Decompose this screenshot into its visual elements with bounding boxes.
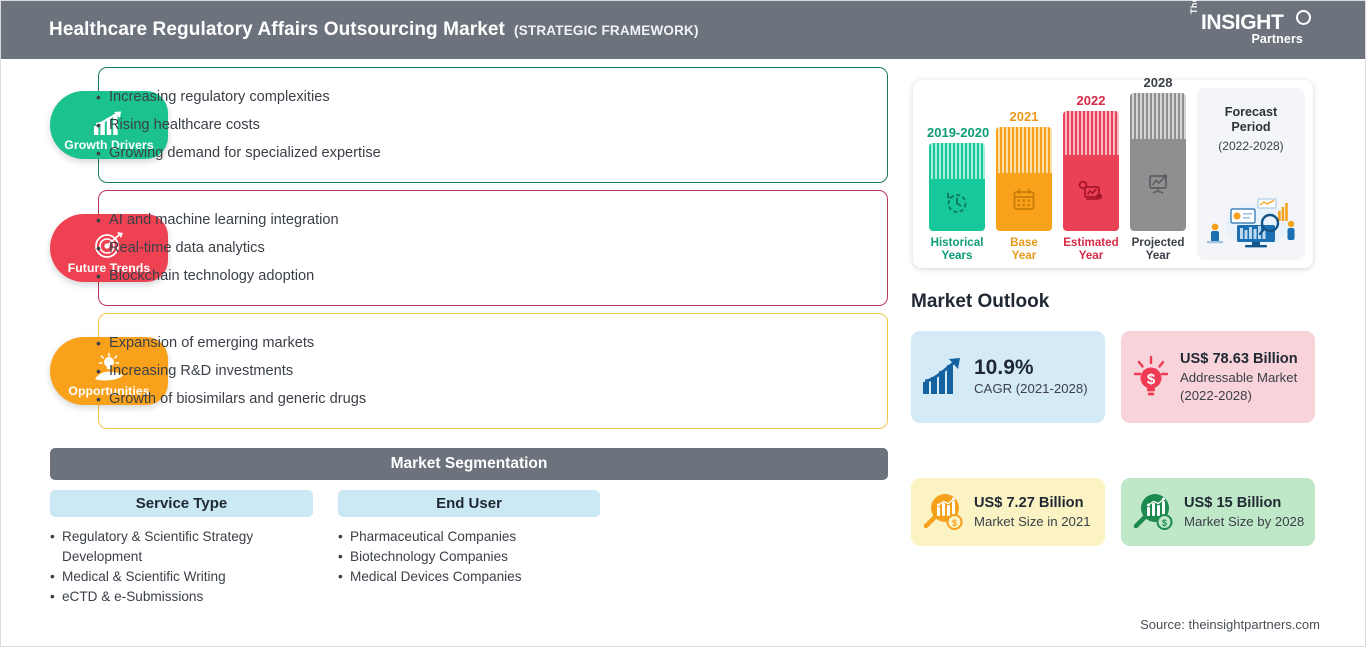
outlook-card-market-size-2021: $ US$ 7.27 Billion Market Size in 2021: [911, 478, 1105, 546]
list-item: Medical Devices Companies: [338, 567, 608, 587]
analytics-gear-icon: [1077, 178, 1105, 209]
bar-stripe-section: [1063, 111, 1119, 155]
list-item: Growing demand for specialized expertise: [96, 139, 381, 167]
list-item: Medical & Scientific Writing: [50, 567, 320, 587]
bar-caption: Projected Year: [1128, 236, 1188, 262]
business-analytics-illustration: [1201, 191, 1301, 254]
header-bar: Healthcare Regulatory Affairs Outsourcin…: [1, 1, 1365, 59]
market-outlook-title: Market Outlook: [911, 291, 1049, 313]
logo-ring-icon: [1296, 10, 1311, 25]
list-item: Biotechnology Companies: [338, 547, 608, 567]
bar-shape: [929, 143, 985, 231]
timeline-card: 2019-2020: [913, 80, 1313, 268]
bar-caption: Base Year: [994, 236, 1054, 262]
end-user-list: Pharmaceutical Companies Biotechnology C…: [338, 527, 608, 587]
list-item: eCTD & e-Submissions: [50, 587, 320, 607]
service-type-list: Regulatory & Scientific Strategy Develop…: [50, 527, 320, 607]
timeline-bars: 2019-2020: [927, 80, 1199, 268]
forecast-label-line2: Period: [1197, 120, 1305, 135]
list-item: Pharmaceutical Companies: [338, 527, 608, 547]
svg-text:$: $: [1147, 371, 1156, 388]
timeline-bar-historical: 2019-2020: [927, 125, 987, 262]
infographic-page: Healthcare Regulatory Affairs Outsourcin…: [0, 0, 1366, 647]
market-segmentation-header: Market Segmentation: [50, 448, 888, 480]
timeline-bar-projected: 2028: [1128, 75, 1188, 262]
svg-text:$: $: [1162, 518, 1167, 528]
page-subtitle: (STRATEGIC FRAMEWORK): [514, 23, 699, 38]
outlook-card-label: Market Size by 2028: [1184, 513, 1306, 531]
calendar-icon: [1011, 187, 1037, 218]
list-item: Expansion of emerging markets: [96, 329, 366, 357]
forecast-period-panel: Forecast Period (2022-2028): [1197, 88, 1305, 260]
list-item: Regulatory & Scientific Strategy Develop…: [50, 527, 320, 567]
bar-caption: Historical Years: [927, 236, 987, 262]
outlook-card-label: Addressable Market (2022-2028): [1180, 369, 1306, 405]
forecast-range: (2022-2028): [1197, 139, 1305, 153]
outlook-card-value: US$ 7.27 Billion: [974, 494, 1096, 513]
bar-caption: Estimated Year: [1061, 236, 1121, 262]
source-attribution: Source: theinsightpartners.com: [1140, 617, 1320, 632]
forecast-label-line1: Forecast: [1197, 105, 1305, 120]
list-item: Blockchain technology adoption: [96, 262, 339, 290]
timeline-bar-estimated: 2022: [1061, 93, 1121, 262]
outlook-card-value: US$ 78.63 Billion: [1180, 350, 1306, 369]
future-trends-list: AI and machine learning integration Real…: [96, 206, 339, 290]
magnifier-chart-icon: $: [920, 489, 966, 535]
list-item: Increasing R&D investments: [96, 357, 366, 385]
outlook-card-market-size-2028: $ US$ 15 Billion Market Size by 2028: [1121, 478, 1315, 546]
logo-partners-text: Partners: [1251, 32, 1303, 46]
outlook-card-value: US$ 15 Billion: [1184, 494, 1306, 513]
list-item: Real-time data analytics: [96, 234, 339, 262]
bar-year-label: 2021: [994, 109, 1054, 124]
list-item: AI and machine learning integration: [96, 206, 339, 234]
segmentation-column-header-end-user: End User: [338, 490, 600, 517]
growth-drivers-list: Increasing regulatory complexities Risin…: [96, 83, 381, 167]
bar-shape: [1063, 111, 1119, 231]
list-item: Increasing regulatory complexities: [96, 83, 381, 111]
history-clock-icon: [944, 190, 970, 221]
bar-year-label: 2019-2020: [927, 125, 987, 140]
logo-the-text: The: [1189, 0, 1199, 14]
bar-year-label: 2028: [1128, 75, 1188, 90]
bar-stripe-section: [929, 143, 985, 179]
bar-solid-section: [1063, 155, 1119, 231]
bar-year-label: 2022: [1061, 93, 1121, 108]
lightbulb-dollar-icon: $: [1130, 354, 1172, 400]
presentation-chart-icon: [1144, 170, 1172, 201]
outlook-card-label: Market Size in 2021: [974, 513, 1096, 531]
bar-solid-section: [1130, 139, 1186, 231]
outlook-card-label: CAGR (2021-2028): [974, 380, 1096, 398]
bar-shape: [1130, 93, 1186, 231]
page-title: Healthcare Regulatory Affairs Outsourcin…: [49, 19, 505, 41]
bar-stripe-section: [996, 127, 1052, 173]
svg-text:$: $: [952, 518, 957, 528]
outlook-card-value: 10.9%: [974, 356, 1096, 380]
left-column: Growth Drivers Increasing regulatory com…: [1, 59, 901, 647]
right-column: 2019-2020: [901, 59, 1365, 647]
list-item: Rising healthcare costs: [96, 111, 381, 139]
bar-solid-section: [996, 173, 1052, 231]
bar-shape: [996, 127, 1052, 231]
outlook-card-addressable-market: $ US$ 78.63 Billion Addressable Market (…: [1121, 331, 1315, 423]
magnifier-chart-icon: $: [1130, 489, 1176, 535]
segmentation-column-header-service-type: Service Type: [50, 490, 313, 517]
outlook-card-cagr: 10.9% CAGR (2021-2028): [911, 331, 1105, 423]
list-item: Growth of biosimilars and generic drugs: [96, 385, 366, 413]
insight-partners-logo: The INSIGHT Partners: [1189, 10, 1309, 50]
bar-stripe-section: [1130, 93, 1186, 139]
opportunities-list: Expansion of emerging markets Increasing…: [96, 329, 366, 413]
growth-chart-arrow-icon: [920, 356, 966, 398]
timeline-bar-base: 2021: [994, 109, 1054, 262]
bar-solid-section: [929, 179, 985, 231]
